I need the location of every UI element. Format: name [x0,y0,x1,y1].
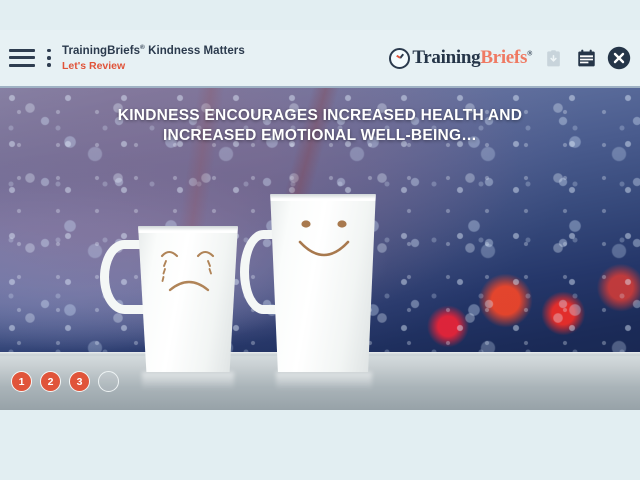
brand-wordmark: TrainingBriefs® [412,47,532,69]
hamburger-line [9,64,35,67]
progress-indicator: 1 2 3 [11,371,119,392]
clock-icon [389,48,410,69]
trainingbriefs-logo: TrainingBriefs® [389,47,532,69]
brand-word-training: Training [412,47,480,68]
header-right-group: TrainingBriefs® [389,46,640,70]
course-title-suffix: Kindness Matters [145,45,245,57]
kebab-dot [47,49,51,53]
course-title: TrainingBriefs® Kindness Matters [62,44,245,58]
slide-title-line-2: INCREASED EMOTIONAL WELL-BEING… [60,126,580,146]
progress-step-3[interactable]: 3 [69,371,90,392]
hamburger-line [9,56,35,59]
header-titles: TrainingBriefs® Kindness Matters Let's R… [62,44,245,72]
slide-title: KINDNESS ENCOURAGES INCREASED HEALTH AND… [0,106,640,147]
kebab-dot [47,63,51,67]
sad-mug-rim [136,226,240,233]
lesson-label: Let's Review [62,60,245,72]
sad-mug-reflection [142,372,234,390]
happy-mug-rim [268,194,378,201]
player-header: TrainingBriefs® Kindness Matters Let's R… [0,30,640,88]
hamburger-line [9,49,35,52]
progress-step-1[interactable]: 1 [11,371,32,392]
notes-icon[interactable] [574,46,598,70]
brand-word-briefs: Briefs [480,47,527,68]
course-player-window: TrainingBriefs® Kindness Matters Let's R… [0,0,640,480]
download-icon [541,46,565,70]
header-left-group: TrainingBriefs® Kindness Matters Let's R… [0,44,245,72]
course-title-brand: TrainingBriefs [62,45,140,57]
kebab-menu-icon[interactable] [44,49,54,67]
slide-stage: KINDNESS ENCOURAGES INCREASED HEALTH AND… [0,88,640,410]
hamburger-menu-icon[interactable] [9,49,35,67]
close-icon[interactable] [607,46,631,70]
happy-mug [268,194,378,372]
progress-step-4[interactable] [98,371,119,392]
sad-mug [136,226,240,372]
kebab-dot [47,56,51,60]
progress-step-2[interactable]: 2 [40,371,61,392]
slide-title-line-1: KINDNESS ENCOURAGES INCREASED HEALTH AND [118,107,522,124]
happy-mug-reflection [276,372,372,390]
brand-registered-mark: ® [527,50,532,58]
